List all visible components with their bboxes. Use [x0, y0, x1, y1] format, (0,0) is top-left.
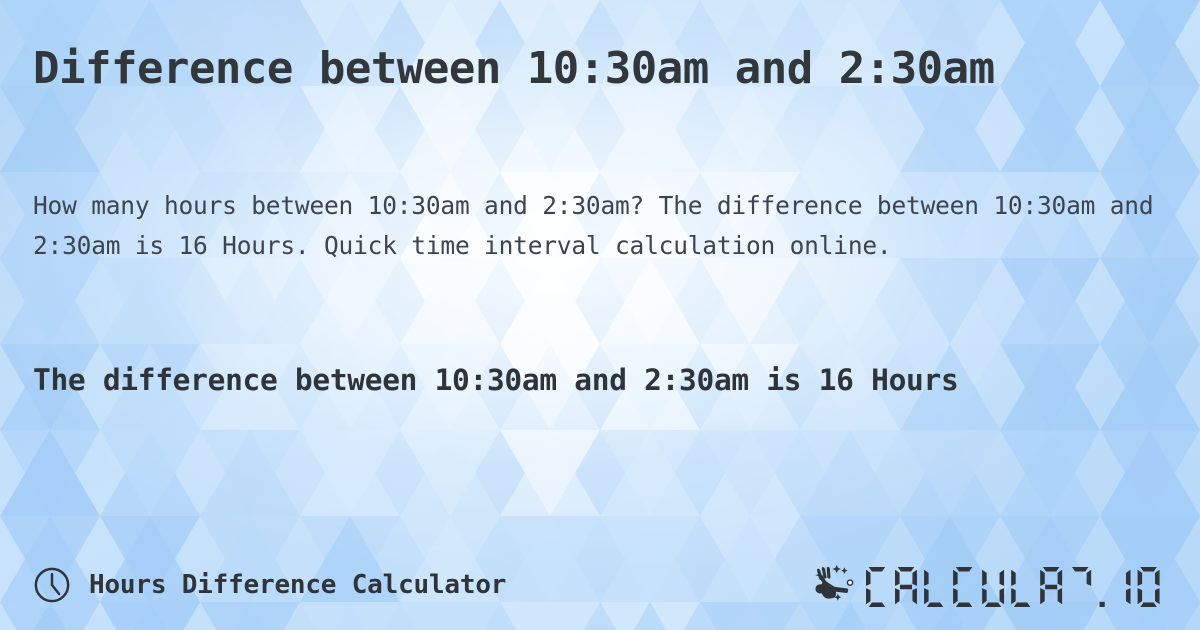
- brand-wordmark-svg: [866, 567, 1167, 607]
- footer-tool-name: Hours Difference Calculator: [89, 570, 506, 600]
- brand-wordmark: [866, 563, 1167, 607]
- intro-paragraph: How many hours between 10:30am and 2:30a…: [33, 186, 1178, 266]
- og-image-card: Difference between 10:30am and 2:30am Ho…: [0, 0, 1200, 630]
- brand-logo: CALCULAT.IO: [809, 563, 1167, 607]
- result-heading: The difference between 10:30am and 2:30a…: [33, 356, 1173, 405]
- page-title: Difference between 10:30am and 2:30am: [33, 41, 995, 97]
- footer-tool: Hours Difference Calculator: [33, 566, 506, 604]
- magic-wand-hand-icon: [809, 563, 857, 607]
- card-content: Difference between 10:30am and 2:30am Ho…: [0, 0, 1200, 630]
- clock-icon: [33, 566, 71, 604]
- footer-bar: Hours Difference Calculator: [0, 540, 1200, 630]
